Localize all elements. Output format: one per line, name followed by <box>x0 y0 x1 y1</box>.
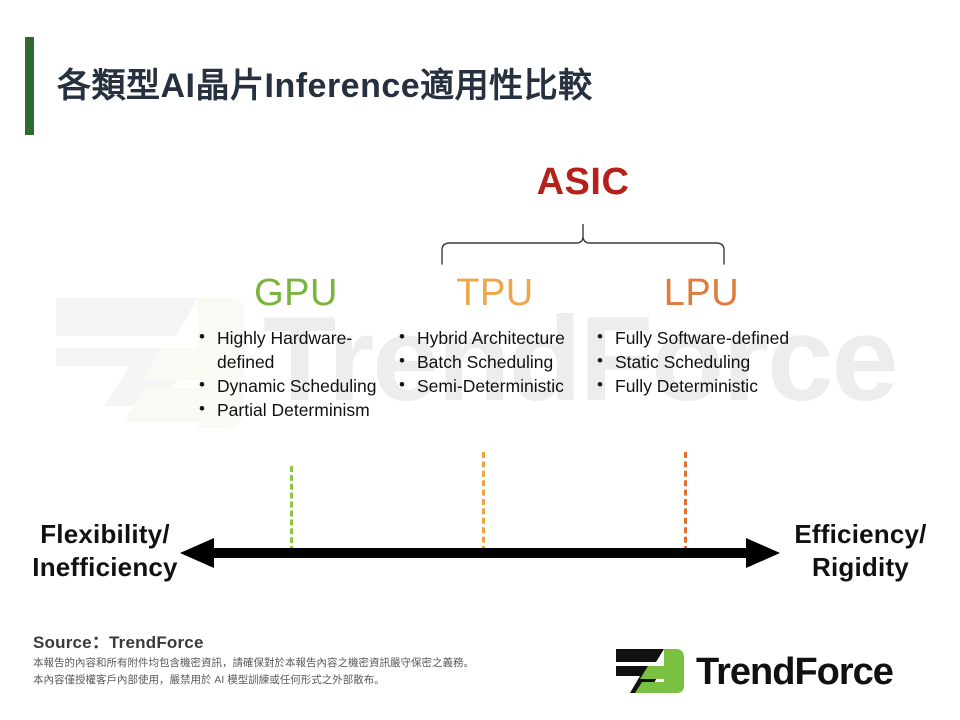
list-item: Hybrid Architecture <box>396 326 594 350</box>
chip-column-lpu: LPU Fully Software-defined Static Schedu… <box>594 270 809 398</box>
list-item: Dynamic Scheduling <box>196 374 396 398</box>
trendforce-logo: TrendForce <box>612 646 932 696</box>
asic-group-brace-icon <box>430 222 740 266</box>
disclaimer-line-2: 本內容僅授權客戶內部使用，嚴禁用於 AI 模型訓練或任何形式之外部散布。 <box>33 672 553 689</box>
disclaimer-text: 本報告的內容和所有附件均包含機密資訊，請確保對於本報告內容之機密資訊嚴守保密之義… <box>33 655 553 689</box>
disclaimer-line-1: 本報告的內容和所有附件均包含機密資訊，請確保對於本報告內容之機密資訊嚴守保密之義… <box>33 655 553 672</box>
list-item: Static Scheduling <box>594 350 809 374</box>
title-accent-bar <box>25 37 34 135</box>
slide-canvas: TrendForce 各類型AI晶片Inference適用性比較 ASIC GP… <box>0 0 960 720</box>
axis-label-left-line2: Inefficiency <box>25 551 185 584</box>
chip-name-gpu: GPU <box>196 270 396 316</box>
axis-label-right: Efficiency/ Rigidity <box>778 518 943 584</box>
chip-bullets-lpu: Fully Software-defined Static Scheduling… <box>594 326 809 398</box>
axis-label-right-line2: Rigidity <box>778 551 943 584</box>
svg-text:TrendForce: TrendForce <box>696 651 893 693</box>
chip-bullets-gpu: Highly Hardware-defined Dynamic Scheduli… <box>196 326 396 422</box>
chip-name-lpu: LPU <box>594 270 809 316</box>
axis-label-left-line1: Flexibility/ <box>25 518 185 551</box>
list-item: Fully Deterministic <box>594 374 809 398</box>
list-item: Semi-Deterministic <box>396 374 594 398</box>
chip-name-tpu: TPU <box>396 270 594 316</box>
axis-label-left: Flexibility/ Inefficiency <box>25 518 185 584</box>
chip-column-gpu: GPU Highly Hardware-defined Dynamic Sche… <box>196 270 396 422</box>
page-title: 各類型AI晶片Inference適用性比較 <box>57 62 877 110</box>
list-item: Highly Hardware-defined <box>196 326 396 374</box>
chip-bullets-tpu: Hybrid Architecture Batch Scheduling Sem… <box>396 326 594 398</box>
chip-column-tpu: TPU Hybrid Architecture Batch Scheduling… <box>396 270 594 398</box>
list-item: Fully Software-defined <box>594 326 809 350</box>
list-item: Partial Determinism <box>196 398 396 422</box>
axis-label-right-line1: Efficiency/ <box>778 518 943 551</box>
asic-group-label: ASIC <box>483 161 683 204</box>
list-item: Batch Scheduling <box>396 350 594 374</box>
spectrum-axis-arrow-icon <box>180 533 780 573</box>
source-label: Source：TrendForce <box>33 628 204 653</box>
